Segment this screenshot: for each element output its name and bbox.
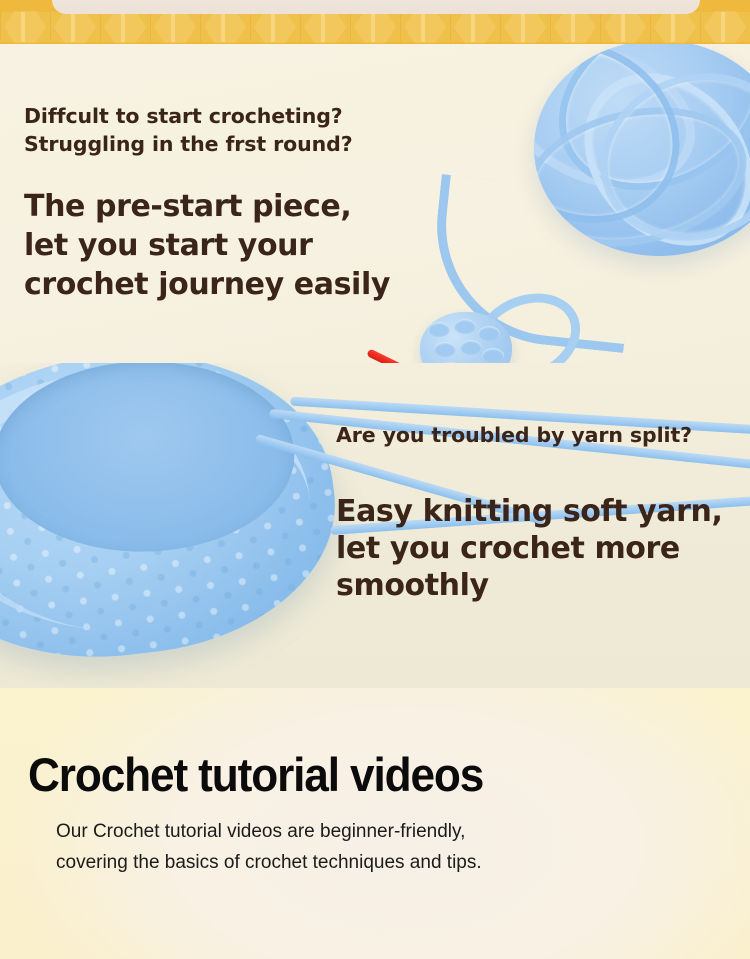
panel1-headline: The pre-start piece, let you start your … bbox=[24, 187, 390, 304]
panel2-text-block: Are you troubled by yarn split? Easy kni… bbox=[336, 421, 722, 604]
blue-crocheted-bowl-image bbox=[0, 363, 351, 680]
panel-pre-start-piece: Diffcult to start crocheting? Struggling… bbox=[0, 44, 750, 363]
panel2-headline: Easy knitting soft yarn, let you crochet… bbox=[336, 493, 722, 604]
top-honeycomb-strip bbox=[0, 0, 750, 44]
top-product-photo-panel bbox=[52, 0, 700, 14]
section-tutorial-videos: Crochet tutorial videos Our Crochet tuto… bbox=[0, 688, 750, 959]
product-detail-page: Diffcult to start crocheting? Struggling… bbox=[0, 0, 750, 959]
tutorial-videos-subtitle: Our Crochet tutorial videos are beginner… bbox=[56, 816, 482, 878]
red-crochet-hook-icon bbox=[368, 340, 498, 363]
panel2-kicker: Are you troubled by yarn split? bbox=[336, 421, 722, 449]
honeycomb-pattern bbox=[0, 12, 750, 42]
panel1-kicker: Diffcult to start crocheting? Struggling… bbox=[24, 102, 390, 158]
tutorial-videos-title: Crochet tutorial videos bbox=[28, 750, 483, 800]
panel1-text-block: Diffcult to start crocheting? Struggling… bbox=[24, 102, 390, 304]
panel-soft-yarn: Are you troubled by yarn split? Easy kni… bbox=[0, 363, 750, 688]
